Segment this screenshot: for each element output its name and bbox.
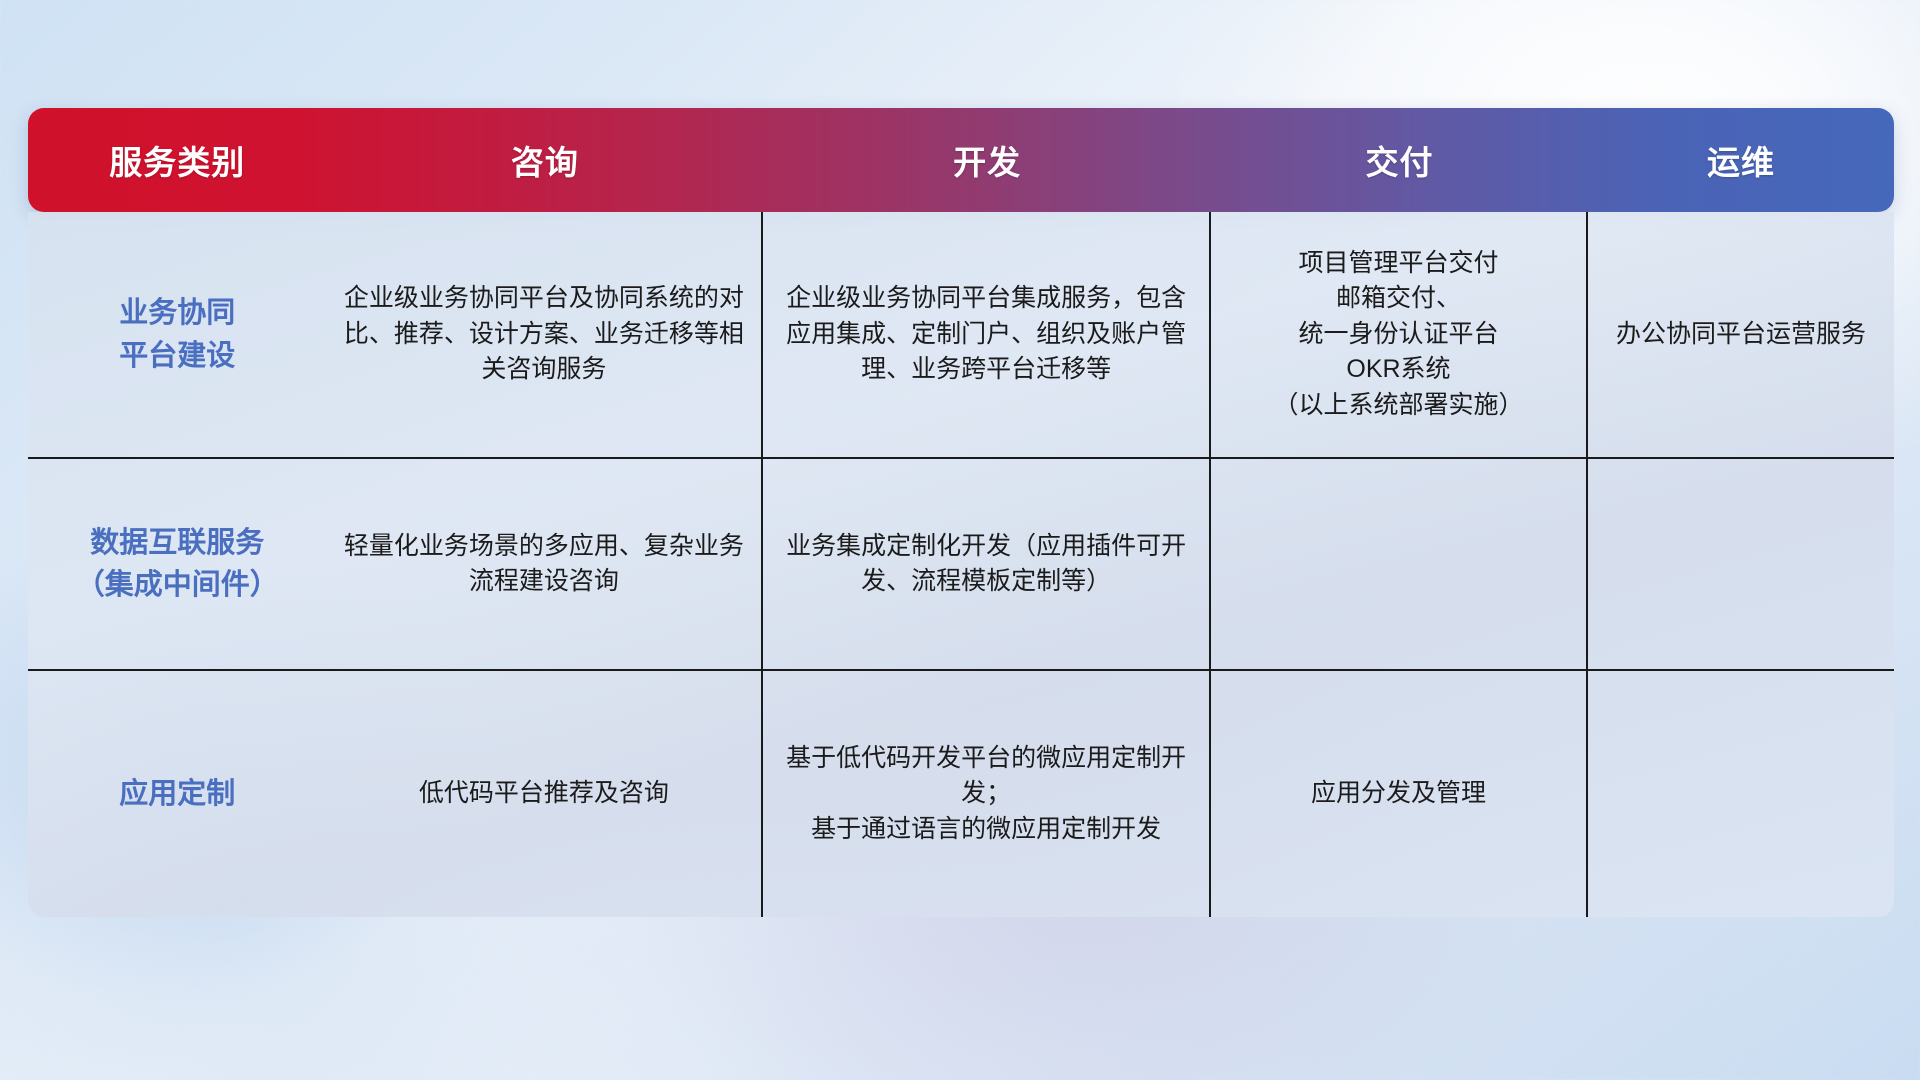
cell-consulting-row2: 轻量化业务场景的多应用、复杂业务流程建设咨询	[327, 459, 764, 669]
column-header-consulting: 咨询	[327, 108, 764, 212]
table-header-row: 服务类别 咨询 开发 交付 运维	[28, 108, 1894, 212]
table-row: 应用定制 低代码平台推荐及咨询 基于低代码开发平台的微应用定制开发； 基于通过语…	[28, 671, 1894, 917]
cell-development-row1: 企业级业务协同平台集成服务，包含应用集成、定制门户、组织及账户管理、业务跨平台迁…	[763, 212, 1211, 457]
column-header-delivery: 交付	[1211, 108, 1588, 212]
row-label-app-customization: 应用定制	[28, 671, 327, 917]
service-matrix-table: 服务类别 咨询 开发 交付 运维 业务协同 平台建设 企业级业务协同平台及协同系…	[28, 108, 1894, 917]
table-row: 数据互联服务 （集成中间件） 轻量化业务场景的多应用、复杂业务流程建设咨询 业务…	[28, 459, 1894, 671]
table-body: 业务协同 平台建设 企业级业务协同平台及协同系统的对比、推荐、设计方案、业务迁移…	[28, 212, 1894, 917]
column-header-operations: 运维	[1588, 108, 1894, 212]
cell-operations-row3	[1588, 671, 1894, 917]
column-header-development: 开发	[763, 108, 1211, 212]
cell-consulting-row3: 低代码平台推荐及咨询	[327, 671, 764, 917]
cell-delivery-row2	[1211, 459, 1588, 669]
cell-operations-row1: 办公协同平台运营服务	[1588, 212, 1894, 457]
cell-development-row3: 基于低代码开发平台的微应用定制开发； 基于通过语言的微应用定制开发	[763, 671, 1211, 917]
table-row: 业务协同 平台建设 企业级业务协同平台及协同系统的对比、推荐、设计方案、业务迁移…	[28, 212, 1894, 459]
column-header-category: 服务类别	[28, 108, 327, 212]
row-label-data-interconnect: 数据互联服务 （集成中间件）	[28, 459, 327, 669]
cell-development-row2: 业务集成定制化开发（应用插件可开发、流程模板定制等）	[763, 459, 1211, 669]
slide-canvas: 服务类别 咨询 开发 交付 运维 业务协同 平台建设 企业级业务协同平台及协同系…	[0, 0, 1920, 1080]
cell-delivery-row3: 应用分发及管理	[1211, 671, 1588, 917]
cell-consulting-row1: 企业级业务协同平台及协同系统的对比、推荐、设计方案、业务迁移等相关咨询服务	[327, 212, 764, 457]
row-label-business-collaboration: 业务协同 平台建设	[28, 212, 327, 457]
cell-operations-row2	[1588, 459, 1894, 669]
cell-delivery-row1: 项目管理平台交付 邮箱交付、 统一身份认证平台 OKR系统 （以上系统部署实施）	[1211, 212, 1588, 457]
